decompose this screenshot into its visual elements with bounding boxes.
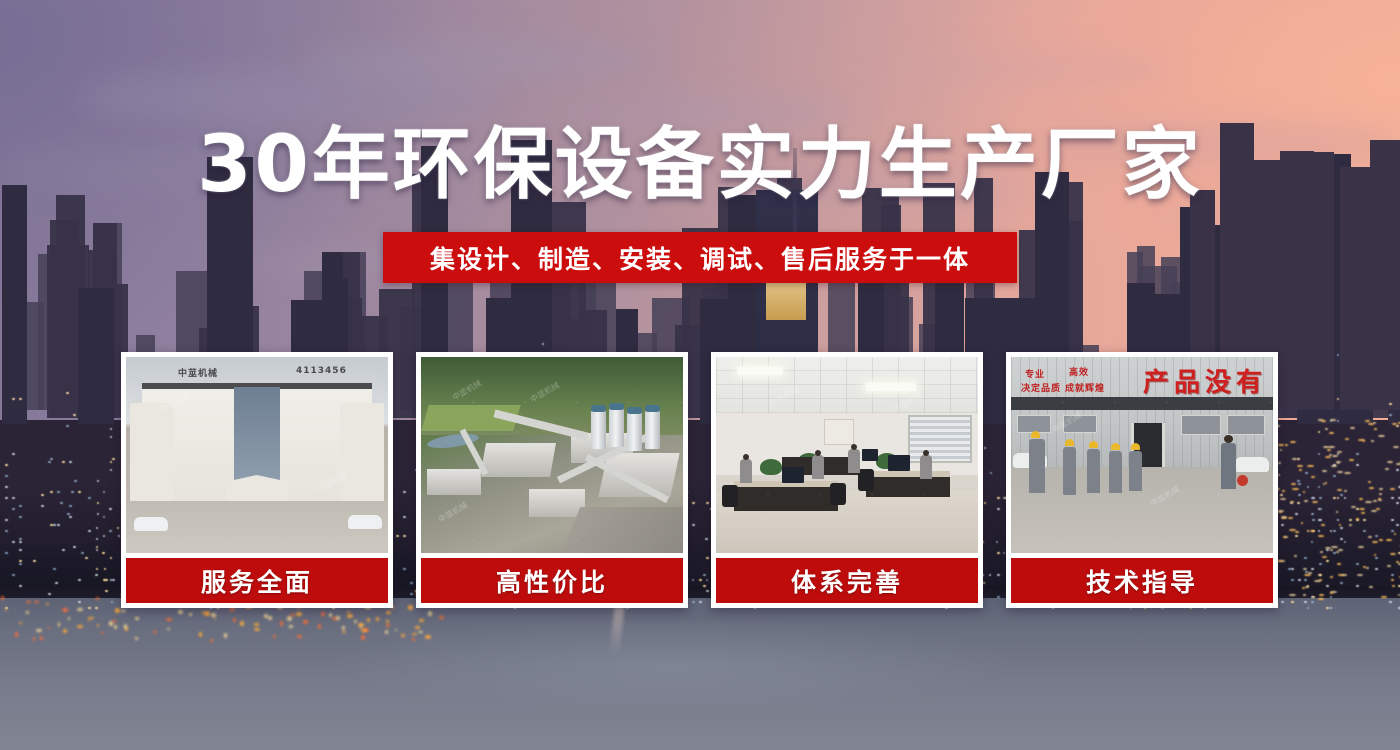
- building-window-light: [19, 549, 22, 551]
- shoreline-light: [62, 608, 68, 611]
- shoreline-light: [376, 617, 379, 621]
- building-window-light: [81, 552, 84, 554]
- building-window-light: [1391, 530, 1394, 532]
- shoreline-light: [114, 625, 117, 630]
- riverfront-light: [1381, 596, 1386, 598]
- workers-training-photo: 产品没有 专业 决定品质 高效 成就辉煌: [1011, 357, 1273, 553]
- riverfront-light: [1292, 488, 1298, 490]
- shoreline-light: [113, 620, 115, 623]
- building-window-light: [1281, 524, 1284, 526]
- shoreline-light: [428, 611, 432, 615]
- building-window-light: [1291, 568, 1294, 570]
- building-window-light: [57, 524, 60, 526]
- building-window-light: [1375, 535, 1378, 537]
- building-window-light: [1340, 494, 1343, 496]
- shoreline-light: [199, 632, 201, 636]
- shoreline-light: [321, 612, 325, 616]
- riverfront-light: [1303, 594, 1306, 596]
- building-window-light: [50, 458, 53, 460]
- building-window-light: [12, 497, 15, 499]
- shoreline-light: [254, 623, 259, 626]
- feature-card[interactable]: 中莁机械 中莁机械 中莁机械 高性价比: [416, 352, 688, 608]
- building-window-light: [1340, 582, 1343, 584]
- building-window-light: [67, 513, 70, 515]
- building-window-light: [1311, 601, 1314, 603]
- riverfront-light: [1307, 465, 1313, 467]
- building-window-light: [5, 486, 8, 488]
- card-label-text: 服务全面: [201, 563, 313, 599]
- building-window-light: [69, 516, 72, 518]
- shoreline-light: [425, 635, 431, 638]
- shoreline-light: [280, 621, 283, 626]
- building-window-light: [1363, 519, 1366, 521]
- riverfront-light: [1280, 498, 1286, 500]
- riverfront-light: [1373, 422, 1376, 424]
- riverfront-light: [1396, 463, 1400, 465]
- riverfront-light: [1305, 586, 1309, 588]
- building-window-light: [73, 414, 76, 416]
- building-window-light: [1375, 557, 1378, 559]
- shoreline-light: [15, 632, 17, 637]
- building-window-light: [12, 398, 15, 400]
- riverfront-light: [1278, 444, 1283, 446]
- riverfront-light: [1358, 546, 1365, 548]
- shoreline-light: [303, 620, 308, 624]
- building-window-light: [1291, 601, 1294, 603]
- shoreline-light: [1, 596, 5, 600]
- shoreline-light: [204, 611, 210, 615]
- building-window-light: [1280, 494, 1283, 496]
- shoreline-light: [367, 618, 370, 622]
- shoreline-light: [229, 608, 235, 610]
- riverfront-light: [1299, 469, 1302, 471]
- riverfront-light: [1311, 476, 1315, 478]
- watermark-mesh: [126, 357, 388, 553]
- building-window-light: [19, 505, 22, 507]
- building-window-light: [1389, 601, 1392, 603]
- building-window-light: [19, 541, 22, 543]
- riverfront-light: [1278, 474, 1280, 476]
- feature-card[interactable]: 中莁机械 中莁机械 体系完善: [711, 352, 983, 608]
- building-window-light: [1333, 497, 1336, 499]
- building-window-light: [1319, 519, 1322, 521]
- building-window-light: [53, 568, 56, 570]
- riverfront-light: [1290, 501, 1294, 503]
- building-window-light: [1304, 557, 1307, 559]
- riverfront-light: [1338, 549, 1343, 551]
- building-window-light: [53, 524, 56, 526]
- building-window-light: [1312, 497, 1315, 499]
- building-window-light: [1356, 585, 1359, 587]
- building-window-light: [1389, 414, 1392, 416]
- promo-banner: 30年环保设备实力生产厂家 集设计、制造、安装、调试、售后服务于一体 中莁机械 …: [0, 0, 1400, 750]
- shoreline-light: [358, 623, 364, 627]
- feature-card[interactable]: 产品没有 专业 决定品质 高效 成就辉煌: [1006, 352, 1278, 608]
- building-window-light: [50, 524, 53, 526]
- shoreline-light: [210, 639, 212, 642]
- shoreline-light: [401, 634, 406, 637]
- shoreline-light: [289, 625, 294, 627]
- building-window-light: [1349, 519, 1352, 521]
- building-window-light: [69, 505, 72, 507]
- riverfront-light: [1359, 498, 1363, 500]
- riverfront-light: [1398, 594, 1400, 596]
- office-interior-photo: 中莁机械 中莁机械: [716, 357, 978, 553]
- riverfront-light: [1318, 535, 1325, 537]
- riverfront-light: [1308, 572, 1312, 574]
- industrial-plant-aerial-photo: 中莁机械 中莁机械 中莁机械: [421, 357, 683, 553]
- shoreline-light: [287, 616, 292, 621]
- building-window-light: [55, 582, 58, 584]
- shoreline-light: [336, 616, 339, 620]
- shoreline-light: [264, 614, 268, 617]
- shoreline-light: [115, 608, 121, 613]
- building-window-light: [19, 516, 22, 518]
- shoreline-light: [347, 611, 350, 613]
- building-window-light: [1304, 601, 1307, 603]
- riverfront-light: [1290, 441, 1296, 443]
- shoreline-light: [419, 619, 424, 622]
- building-window-light: [1298, 579, 1301, 581]
- riverfront-light: [1369, 487, 1374, 489]
- building-window-light: [1312, 519, 1315, 521]
- riverfront-light: [1372, 541, 1378, 543]
- building-window-light: [102, 552, 105, 554]
- shoreline-light: [240, 621, 244, 625]
- building-window-light: [1391, 519, 1394, 521]
- riverfront-light: [1361, 512, 1366, 514]
- riverfront-light: [1371, 510, 1377, 512]
- riverfront-light: [1312, 501, 1318, 503]
- building-window-light: [1363, 530, 1366, 532]
- feature-card[interactable]: 中莁机械 4113456 中莁机械 中莁机械 服务全面: [121, 352, 393, 608]
- building-window-light: [5, 475, 8, 477]
- building-window-light: [1333, 475, 1336, 477]
- building-window-light: [5, 530, 8, 532]
- building-window-light: [1297, 502, 1300, 504]
- riverfront-light: [1366, 567, 1369, 569]
- shoreline-light: [135, 617, 140, 620]
- riverfront-light: [1297, 465, 1303, 467]
- building-window-light: [1297, 458, 1300, 460]
- riverfront-light: [1344, 490, 1347, 492]
- riverfront-light: [1359, 508, 1365, 510]
- building-window-light: [73, 546, 76, 548]
- card-label: 高性价比: [421, 558, 683, 603]
- building-window-light: [5, 519, 8, 521]
- building-window-light: [12, 574, 15, 576]
- riverfront-light: [1314, 580, 1321, 582]
- riverfront-light: [1374, 554, 1376, 556]
- riverfront-light: [1336, 551, 1339, 553]
- building-window-light: [1326, 585, 1329, 587]
- building-window-light: [1375, 568, 1378, 570]
- building-window-light: [1326, 607, 1329, 609]
- shoreline-light: [36, 629, 42, 632]
- building-window-light: [50, 491, 53, 493]
- building-window-light: [66, 425, 69, 427]
- riverfront-light: [1339, 524, 1341, 526]
- building-window-light: [57, 491, 60, 493]
- building-window-light: [1396, 469, 1399, 471]
- riverfront-light: [1280, 449, 1282, 451]
- card-label-text: 技术指导: [1086, 563, 1198, 599]
- building-window-light: [48, 461, 51, 463]
- building-window-light: [5, 464, 8, 466]
- shoreline-light: [273, 635, 276, 638]
- riverfront-light: [1322, 556, 1327, 558]
- shoreline-light: [121, 610, 126, 612]
- card-label-text: 体系完善: [791, 563, 903, 599]
- shoreline-light: [166, 618, 171, 621]
- riverfront-light: [1281, 516, 1287, 518]
- building-window-light: [1319, 497, 1322, 499]
- building-window-light: [1291, 579, 1294, 581]
- riverfront-light: [1278, 510, 1283, 512]
- building-window-light: [112, 579, 115, 581]
- riverfront-light: [1283, 536, 1285, 538]
- building-window-light: [88, 530, 91, 532]
- shoreline-light: [211, 613, 216, 616]
- building-window-light: [1326, 549, 1329, 551]
- watermark-mesh: [716, 357, 978, 553]
- riverfront-light: [1330, 576, 1333, 578]
- page-title: 30年环保设备实力生产厂家: [0, 126, 1400, 204]
- building-window-light: [1389, 403, 1392, 405]
- shoreline-light: [297, 635, 303, 638]
- building-window-light: [74, 480, 77, 482]
- building-window-light: [5, 552, 8, 554]
- shoreline-light: [19, 622, 22, 625]
- shoreline-light: [77, 625, 83, 627]
- feature-card-row: 中莁机械 4113456 中莁机械 中莁机械 服务全面: [121, 352, 1278, 608]
- subtitle-bar: 集设计、制造、安装、调试、售后服务于一体: [383, 232, 1017, 283]
- skyline-building: [78, 288, 114, 424]
- shoreline-light: [361, 635, 365, 640]
- building-window-light: [1319, 508, 1322, 510]
- riverfront-light: [1318, 598, 1324, 600]
- shoreline-light: [63, 629, 67, 633]
- building-window-light: [41, 494, 44, 496]
- shoreline-light: [224, 633, 226, 637]
- card-label-text: 高性价比: [496, 563, 608, 599]
- building-window-light: [78, 601, 81, 603]
- skyline-building: [2, 185, 27, 424]
- shoreline-light: [296, 612, 302, 615]
- building-window-light: [1295, 513, 1298, 515]
- building-window-light: [1305, 472, 1308, 474]
- building-window-light: [95, 607, 98, 609]
- riverfront-light: [1363, 566, 1366, 568]
- shoreline-light: [342, 626, 346, 630]
- building-window-light: [19, 538, 22, 540]
- shoreline-light: [386, 624, 390, 628]
- building-window-light: [109, 530, 112, 532]
- shoreline-light: [153, 631, 156, 633]
- building-window-light: [5, 497, 8, 499]
- riverfront-light: [1365, 501, 1371, 503]
- building-window-light: [95, 574, 98, 576]
- building-window-light: [19, 563, 22, 565]
- building-window-light: [62, 461, 65, 463]
- riverfront-light: [1292, 458, 1297, 460]
- building-window-light: [1298, 494, 1301, 496]
- riverfront-light: [1368, 536, 1372, 538]
- building-window-light: [12, 508, 15, 510]
- building-window-light: [1391, 574, 1394, 576]
- riverfront-light: [1291, 483, 1296, 485]
- riverfront-light: [1295, 531, 1299, 533]
- building-window-light: [19, 560, 22, 562]
- building-window-light: [60, 502, 63, 504]
- shoreline-light: [268, 616, 272, 620]
- building-window-light: [78, 491, 81, 493]
- building-window-light: [1340, 527, 1343, 529]
- building-window-light: [85, 557, 88, 559]
- building-window-light: [112, 458, 115, 460]
- building-window-light: [1281, 601, 1284, 603]
- shoreline-light: [386, 620, 389, 622]
- card-label: 服务全面: [126, 558, 388, 603]
- water-sheen: [330, 620, 1190, 710]
- building-window-light: [41, 505, 44, 507]
- shoreline-light: [347, 614, 353, 618]
- riverfront-light: [1394, 533, 1396, 535]
- building-window-light: [19, 585, 22, 587]
- building-window-light: [19, 398, 22, 400]
- building-window-light: [1396, 425, 1399, 427]
- building-window-light: [105, 590, 108, 592]
- building-window-light: [33, 560, 36, 562]
- building-window-light: [1297, 480, 1300, 482]
- building-window-light: [1340, 538, 1343, 540]
- watermark-mesh: [1011, 357, 1273, 553]
- building-window-light: [1298, 483, 1301, 485]
- building-window-light: [1356, 563, 1359, 565]
- riverfront-light: [1303, 568, 1307, 570]
- shoreline-light: [96, 597, 99, 600]
- shoreline-light: [329, 613, 332, 616]
- building-window-light: [1295, 535, 1298, 537]
- riverfront-light: [1321, 420, 1326, 422]
- building-window-light: [1396, 502, 1399, 504]
- building-window-light: [78, 579, 81, 581]
- building-window-light: [1311, 568, 1314, 570]
- subtitle-text: 集设计、制造、安装、调试、售后服务于一体: [430, 240, 970, 276]
- building-window-light: [1396, 524, 1399, 526]
- building-window-light: [1311, 513, 1314, 515]
- riverfront-light: [1322, 470, 1327, 472]
- building-window-light: [48, 593, 51, 595]
- building-window-light: [1333, 530, 1336, 532]
- building-window-light: [1326, 560, 1329, 562]
- building-window-light: [1319, 563, 1322, 565]
- building-window-light: [1356, 464, 1359, 466]
- building-window-light: [1312, 596, 1315, 598]
- riverfront-light: [1386, 539, 1391, 541]
- building-window-light: [12, 453, 15, 455]
- shoreline-light: [88, 617, 94, 619]
- shoreline-light: [88, 619, 91, 621]
- building-window-light: [109, 508, 112, 510]
- company-headquarters-photo: 中莁机械 4113456 中莁机械 中莁机械: [126, 357, 388, 553]
- riverfront-light: [1329, 432, 1333, 434]
- card-label: 体系完善: [716, 558, 978, 603]
- riverfront-light: [1330, 549, 1333, 551]
- building-window-light: [69, 461, 72, 463]
- riverfront-light: [1337, 471, 1343, 473]
- building-window-light: [12, 541, 15, 543]
- building-window-light: [71, 491, 74, 493]
- building-window-light: [1391, 497, 1394, 499]
- shoreline-light: [124, 624, 127, 629]
- building-window-light: [88, 497, 91, 499]
- card-label: 技术指导: [1011, 558, 1273, 603]
- building-window-light: [66, 392, 69, 394]
- riverfront-light: [1365, 420, 1370, 422]
- riverfront-light: [1387, 565, 1391, 567]
- riverfront-light: [1378, 498, 1381, 500]
- building-window-light: [88, 607, 91, 609]
- building-window-light: [1304, 579, 1307, 581]
- building-window-light: [1356, 453, 1359, 455]
- riverfront-light: [1357, 574, 1363, 576]
- building-window-light: [62, 549, 65, 551]
